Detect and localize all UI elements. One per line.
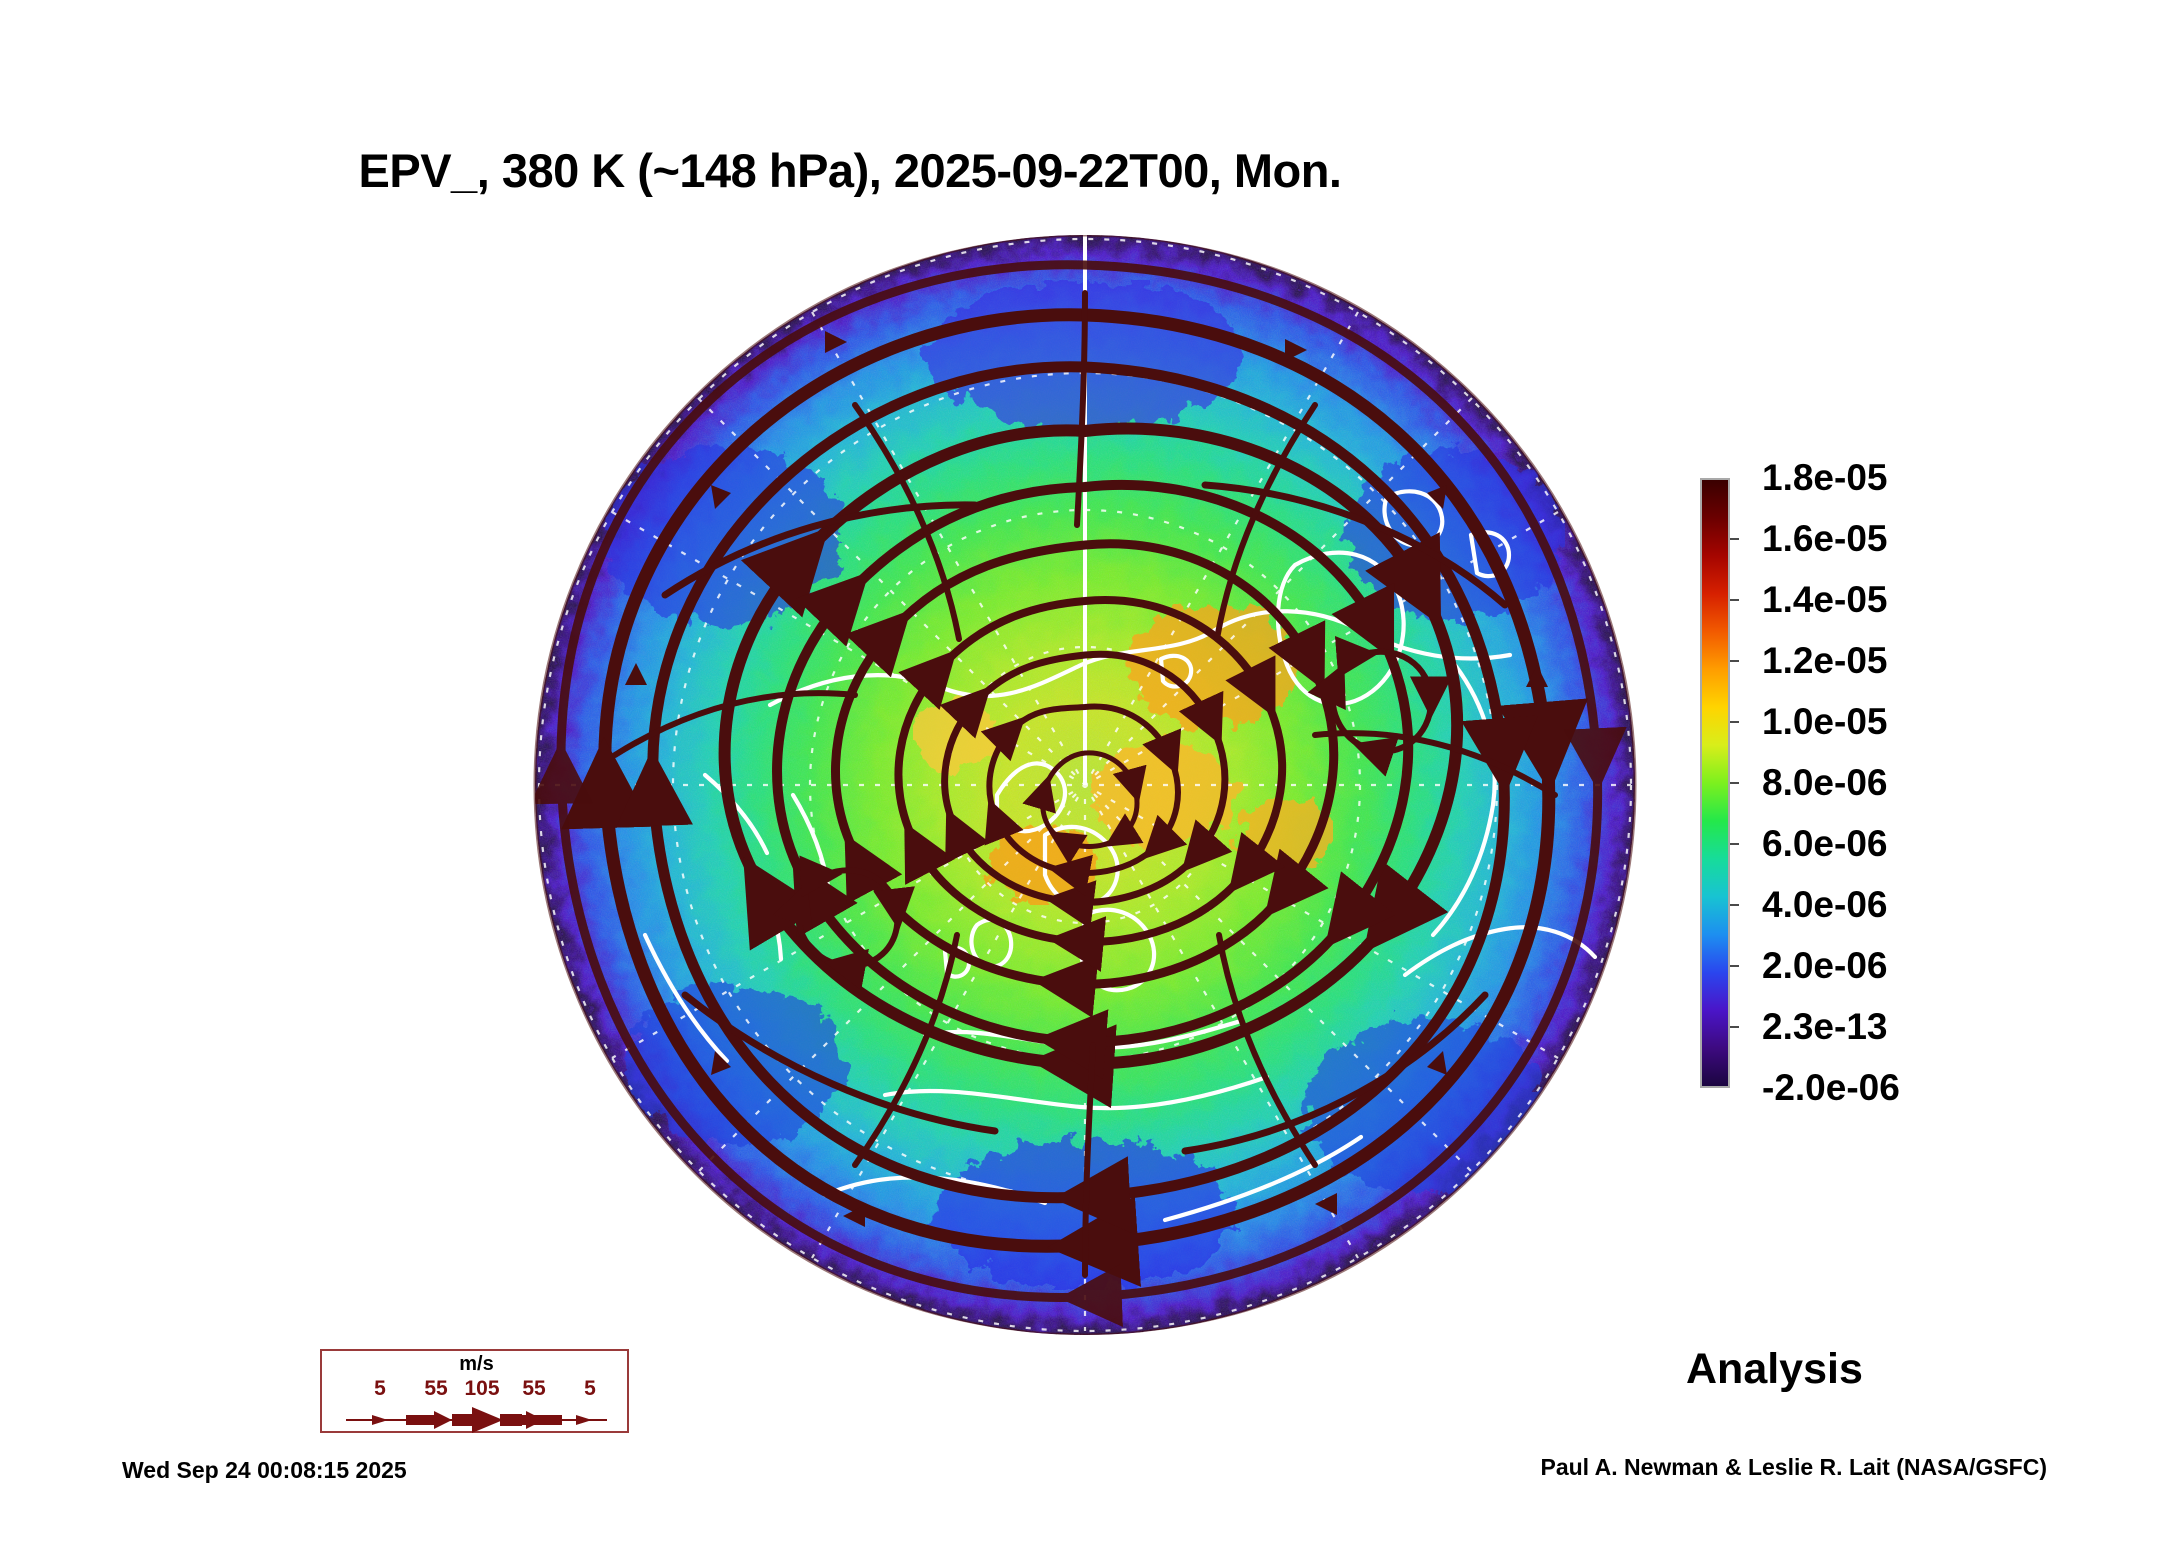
wind-speed-legend: m/s 555105555 (320, 1349, 629, 1433)
colorbar-tick (1730, 843, 1739, 845)
colorbar-tick-label: 2.0e-06 (1762, 945, 1888, 987)
wind-speed-label: 55 (424, 1377, 447, 1401)
colorbar-tick (1730, 538, 1739, 540)
colorbar-tick (1730, 965, 1739, 967)
colorbar-tick (1730, 599, 1739, 601)
credit-line: Paul A. Newman & Leslie R. Lait (NASA/GS… (1540, 1454, 2047, 1481)
page-title: EPV_, 380 K (~148 hPa), 2025-09-22T00, M… (0, 143, 1700, 198)
colorbar-tick-label: 8.0e-06 (1762, 762, 1888, 804)
colorbar-tick-label: 1.8e-05 (1762, 457, 1888, 499)
colorbar: 1.8e-051.6e-051.4e-051.2e-051.0e-058.0e-… (1700, 478, 2120, 1088)
colorbar-tick-label: 1.0e-05 (1762, 701, 1888, 743)
colorbar-tick-label: 1.2e-05 (1762, 640, 1888, 682)
colorbar-tick (1730, 660, 1739, 662)
colorbar-tick-label: -2.0e-06 (1762, 1067, 1900, 1109)
colorbar-tick (1730, 721, 1739, 723)
polar-stereographic-map[interactable] (525, 235, 1645, 1335)
wind-speed-label: 105 (464, 1377, 499, 1401)
colorbar-tick-label: 1.4e-05 (1762, 579, 1888, 621)
colorbar-tick (1730, 904, 1739, 906)
wind-legend-arrow-scale (322, 1406, 631, 1434)
analysis-label: Analysis (1686, 1345, 1863, 1394)
map-canvas (525, 235, 1645, 1335)
colorbar-tick (1730, 782, 1739, 784)
render-timestamp: Wed Sep 24 00:08:15 2025 (122, 1457, 407, 1484)
colorbar-tick-label: 2.3e-13 (1762, 1006, 1888, 1048)
wind-speed-label: 5 (584, 1377, 596, 1401)
colorbar-tick (1730, 1026, 1739, 1028)
colorbar-tick-label: 1.6e-05 (1762, 518, 1888, 560)
colorbar-tick-label: 6.0e-06 (1762, 823, 1888, 865)
wind-speed-label: 55 (522, 1377, 545, 1401)
colorbar-tick-label: 4.0e-06 (1762, 884, 1888, 926)
colorbar-gradient (1700, 478, 1730, 1088)
wind-legend-unit-label: m/s (322, 1353, 631, 1376)
wind-speed-label: 5 (374, 1377, 386, 1401)
